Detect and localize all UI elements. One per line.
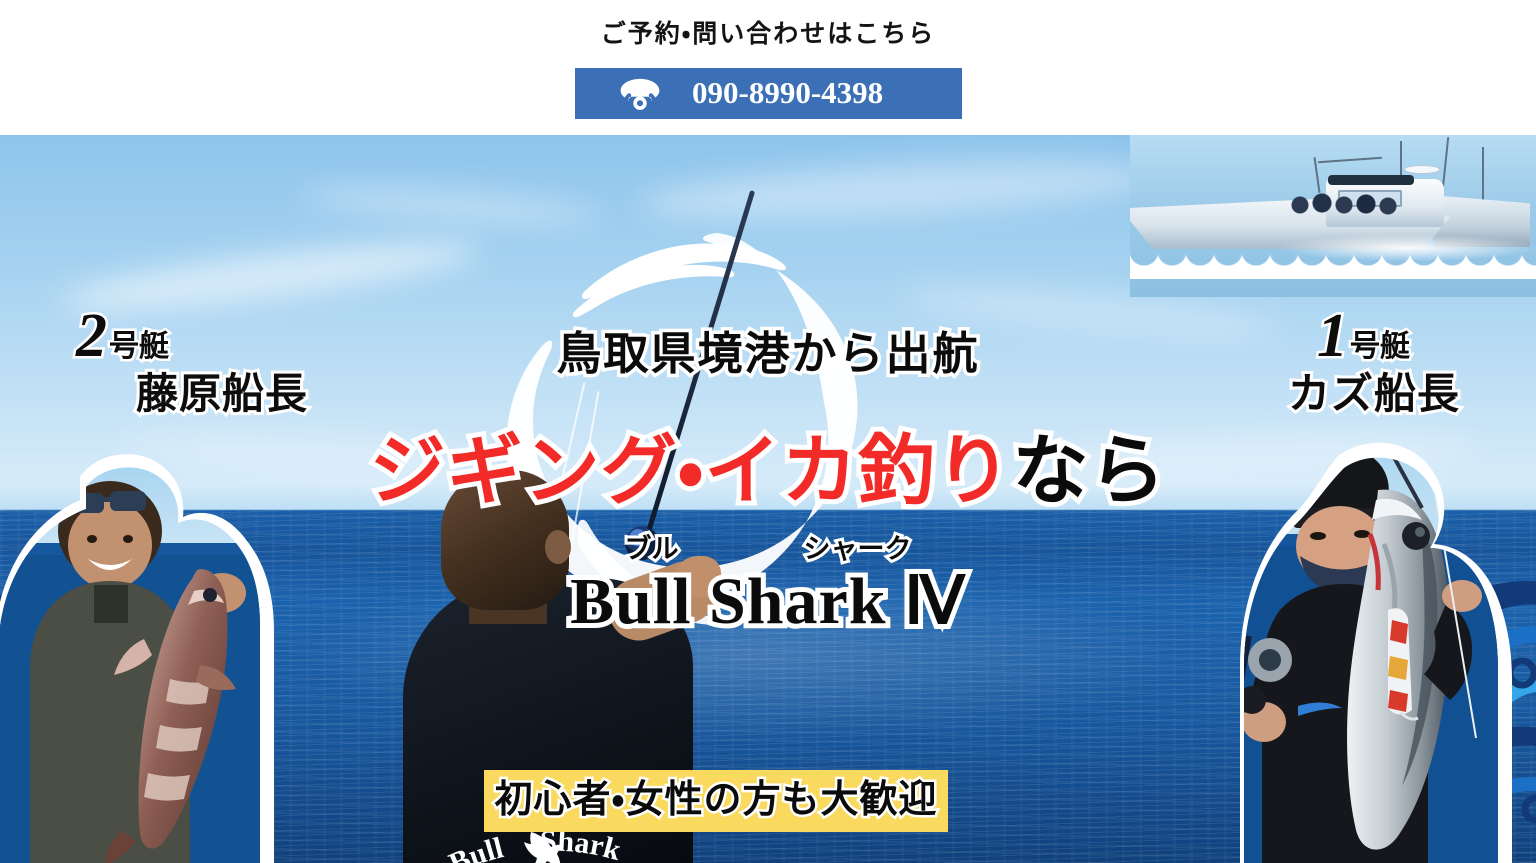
welcome-badge-label: 初心者・女性の方も大歓迎 xyxy=(495,781,938,822)
phone-number: 090-8990-4398 xyxy=(692,77,883,111)
captain-kazu-with-amberjack-photo xyxy=(1240,438,1536,863)
wave-edge-mask xyxy=(1130,251,1536,297)
angler-hand xyxy=(675,556,721,598)
fishing-boat-photo xyxy=(1130,135,1536,297)
contact-heading: ご予約・問い合わせはこちら xyxy=(0,14,1536,50)
svg-text:Bull: Bull xyxy=(445,831,507,863)
shirt-logo-text: Bull xyxy=(445,831,507,863)
telephone-icon xyxy=(619,78,661,110)
boat-mast xyxy=(1482,147,1484,201)
hero-banner: Bull Shark xyxy=(0,135,1536,863)
bull-shark-shirt-logo: Bull Shark xyxy=(445,828,645,863)
contact-bar: ご予約・問い合わせはこちら 090-8990-4398 xyxy=(0,0,1536,135)
boat-cabin-roof xyxy=(1328,175,1414,185)
captain-fujiwara-with-grouper-photo xyxy=(0,443,294,863)
boat-radar-dome xyxy=(1404,165,1440,174)
angler-ear xyxy=(545,530,571,564)
phone-call-button[interactable]: 090-8990-4398 xyxy=(575,68,962,119)
welcome-badge: 初心者・女性の方も大歓迎 xyxy=(484,770,948,832)
boat-passengers xyxy=(1290,189,1410,221)
fishing-reel xyxy=(625,526,659,560)
